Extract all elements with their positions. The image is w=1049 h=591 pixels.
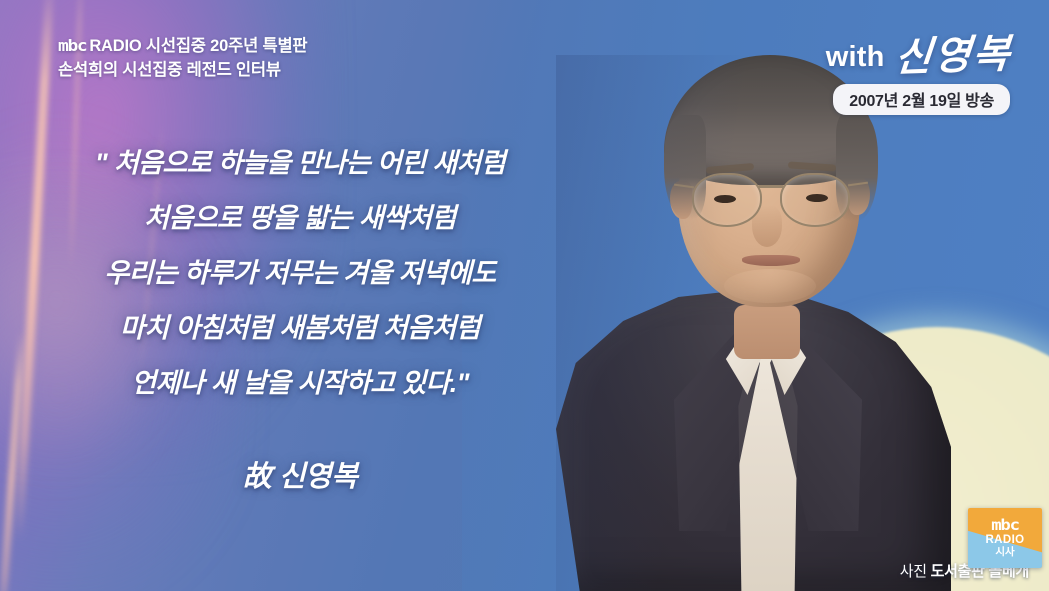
quote-line: 언제나 새 날을 시작하고 있다.": [0, 370, 600, 397]
portrait-mouth: [742, 255, 800, 266]
broadcast-graphic-frame: mbcRADIO 시선집중 20주년 특별판 손석희의 시선집중 레전드 인터뷰…: [0, 0, 1049, 591]
mbc-wordmark: mbc: [58, 34, 86, 57]
logo-sub-label: 시사: [995, 547, 1014, 558]
program-title-line-1-text: RADIO 시선집중 20주년 특별판: [89, 37, 307, 55]
glasses-lens-right: [780, 173, 850, 227]
quote-line: 우리는 하루가 저무는 겨울 저녁에도: [0, 260, 600, 287]
glasses-bridge: [758, 185, 784, 188]
program-title-line-2: 손석희의 시선집중 레전드 인터뷰: [58, 59, 307, 83]
portrait-chin: [724, 269, 816, 303]
guest-name-calligraphy: 신영복: [893, 34, 1013, 78]
quote-attribution: 故 신영복: [0, 453, 600, 495]
quote-line: 마치 아침처럼 새봄처럼 처음처럼: [0, 315, 600, 342]
broadcast-date-badge: 2007년 2월 19일 방송: [833, 84, 1010, 115]
portrait-glasses: [692, 173, 850, 223]
program-title-block: mbcRADIO 시선집중 20주년 특별판 손석희의 시선집중 레전드 인터뷰: [58, 34, 307, 83]
quote-line: " 처음으로 하늘을 만나는 어린 새처럼: [0, 150, 600, 177]
glasses-lens-left: [692, 173, 762, 227]
portrait-eye-right: [806, 194, 828, 202]
logo-text-group: mbc RADIO 시사: [968, 508, 1042, 568]
portrait-eye-left: [714, 195, 736, 203]
quote-line: 처음으로 땅을 밟는 새싹처럼: [0, 205, 600, 232]
mbc-radio-logo-badge: mbc RADIO 시사: [968, 508, 1042, 568]
guest-portrait: [556, 55, 951, 591]
quote-block: " 처음으로 하늘을 만나는 어린 새처럼 처음으로 땅을 밟는 새싹처럼 우리…: [0, 150, 600, 495]
with-label: with: [826, 43, 885, 76]
logo-mbc-wordmark: mbc: [991, 518, 1019, 534]
portrait-neck: [734, 305, 800, 359]
program-title-line-1: mbcRADIO 시선집중 20주년 특별판: [58, 34, 307, 59]
logo-radio-label: RADIO: [985, 534, 1024, 546]
with-guest-block: with 신영복: [826, 36, 1011, 76]
photo-credit-prefix: 사진: [900, 563, 927, 580]
